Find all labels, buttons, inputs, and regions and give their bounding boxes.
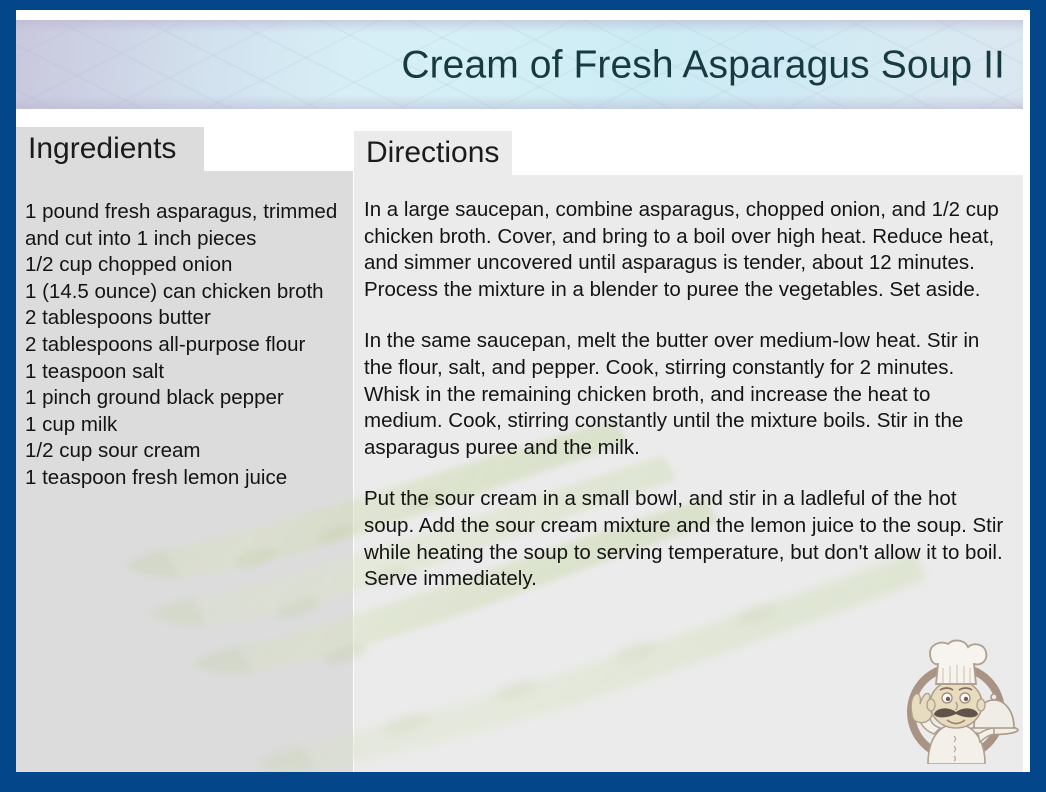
recipe-card: Cream of Fresh Asparagus Soup II [0, 0, 1046, 792]
ingredient-item: 2 tablespoons butter [25, 305, 345, 332]
ingredient-item: 1 (14.5 ounce) can chicken broth [25, 279, 345, 306]
ingredient-item: 1 pound fresh asparagus, trimmed and cut… [25, 199, 345, 252]
ingredient-item: 1/2 cup chopped onion [25, 252, 345, 279]
page-title: Cream of Fresh Asparagus Soup II [401, 45, 1005, 84]
ingredient-item: 1 teaspoon fresh lemon juice [25, 465, 345, 492]
direction-step: Put the sour cream in a small bowl, and … [364, 486, 1007, 592]
title-banner: Cream of Fresh Asparagus Soup II [16, 20, 1023, 109]
section-tab-ingredients: Ingredients [16, 127, 204, 171]
ingredient-item: 1/2 cup sour cream [25, 438, 345, 465]
section-tab-directions: Directions [354, 131, 512, 175]
ingredient-item: 1 pinch ground black pepper [25, 385, 345, 412]
ingredient-item: 1 cup milk [25, 412, 345, 439]
direction-step: In a large saucepan, combine asparagus, … [364, 197, 1007, 303]
directions-heading: Directions [354, 138, 513, 168]
recipe-card-inner: Cream of Fresh Asparagus Soup II [16, 10, 1030, 772]
ingredients-heading: Ingredients [16, 134, 190, 164]
ingredient-item: 2 tablespoons all-purpose flour [25, 332, 345, 359]
ingredient-item: 1 teaspoon salt [25, 359, 345, 386]
ingredients-panel: 1 pound fresh asparagus, trimmed and cut… [16, 171, 353, 772]
chef-logo [890, 638, 1022, 764]
direction-step: In the same saucepan, melt the butter ov… [364, 328, 1007, 461]
ingredient-list: 1 pound fresh asparagus, trimmed and cut… [16, 171, 353, 492]
directions-body: In a large saucepan, combine asparagus, … [354, 175, 1023, 593]
